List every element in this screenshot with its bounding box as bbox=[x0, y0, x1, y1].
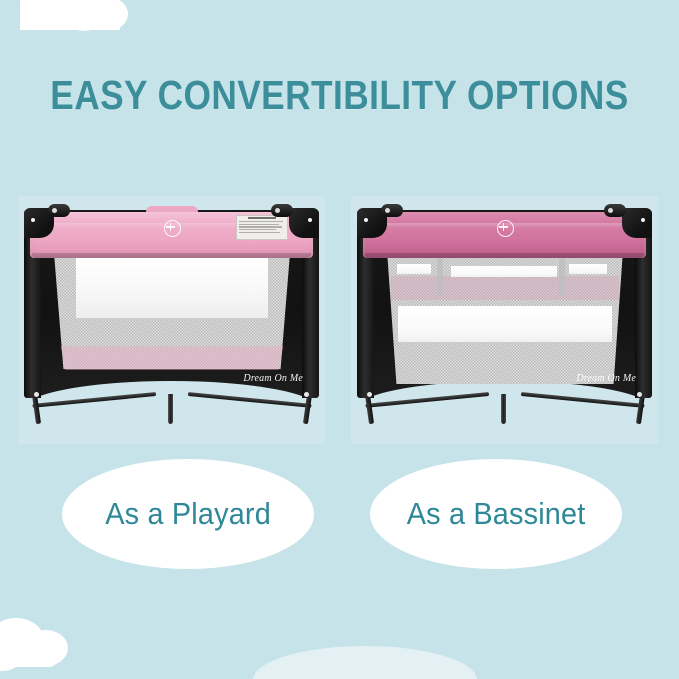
cloud-bottom-left-icon bbox=[0, 612, 102, 679]
playard-rail-shadow bbox=[32, 253, 311, 258]
playard-crib-illustration: Dream On Me bbox=[18, 196, 325, 444]
caption-oval-bassinet: As a Bassinet bbox=[370, 459, 622, 569]
bassinet-knob-right bbox=[604, 204, 626, 217]
playard-center-support bbox=[168, 394, 173, 424]
bassinet-mattress-panel bbox=[398, 306, 612, 342]
bassinet-upper-panel-1 bbox=[397, 264, 431, 274]
cloud-top-left-icon bbox=[12, 0, 132, 32]
bassinet-upper-panel-3 bbox=[569, 264, 607, 274]
circle-cross-emblem-icon bbox=[164, 220, 181, 237]
bassinet-hub-rivet-right bbox=[637, 392, 642, 397]
playard-knob-right bbox=[271, 204, 293, 217]
bassinet-knob-left bbox=[381, 204, 403, 217]
bassinet-hub-rivet-left bbox=[367, 392, 372, 397]
product-feature-poster: EASY CONVERTIBILITY OPTIONS bbox=[0, 0, 679, 679]
bassinet-rail-shadow bbox=[365, 253, 644, 258]
warning-care-label-icon bbox=[236, 215, 288, 240]
playard-pink-sheet bbox=[56, 346, 288, 370]
caption-label-playard: As a Playard bbox=[105, 496, 271, 532]
page-title: EASY CONVERTIBILITY OPTIONS bbox=[48, 72, 632, 119]
playard-hub-rivet-left bbox=[34, 392, 39, 397]
cloud-bottom-center-icon bbox=[250, 628, 480, 679]
playard-mattress-panel bbox=[76, 258, 268, 318]
brand-logo-bassinet: Dream On Me bbox=[576, 373, 636, 384]
bassinet-pink-tint bbox=[391, 276, 619, 300]
bassinet-center-support bbox=[501, 394, 506, 424]
product-photo-playard: Dream On Me bbox=[18, 196, 325, 444]
bassinet-divider-rib-2 bbox=[559, 252, 565, 296]
caption-oval-playard: As a Playard bbox=[62, 459, 314, 569]
bassinet-crib-illustration: Dream On Me bbox=[351, 196, 658, 444]
playard-knob-left bbox=[48, 204, 70, 217]
playard-bracket-right bbox=[289, 208, 319, 238]
caption-label-bassinet: As a Bassinet bbox=[407, 496, 586, 532]
product-photo-bassinet: Dream On Me bbox=[351, 196, 658, 444]
bassinet-bracket-right bbox=[622, 208, 652, 238]
playard-hub-rivet-right bbox=[304, 392, 309, 397]
bassinet-upper-panel-2 bbox=[451, 266, 557, 277]
bassinet-divider-rib-1 bbox=[437, 252, 443, 296]
bassinet-rivet-left bbox=[364, 218, 368, 222]
playard-rivet-left bbox=[31, 218, 35, 222]
bassinet-rivet-right bbox=[641, 218, 645, 222]
circle-cross-emblem-icon bbox=[497, 220, 514, 237]
brand-logo-playard: Dream On Me bbox=[243, 373, 303, 384]
playard-rivet-right bbox=[308, 218, 312, 222]
